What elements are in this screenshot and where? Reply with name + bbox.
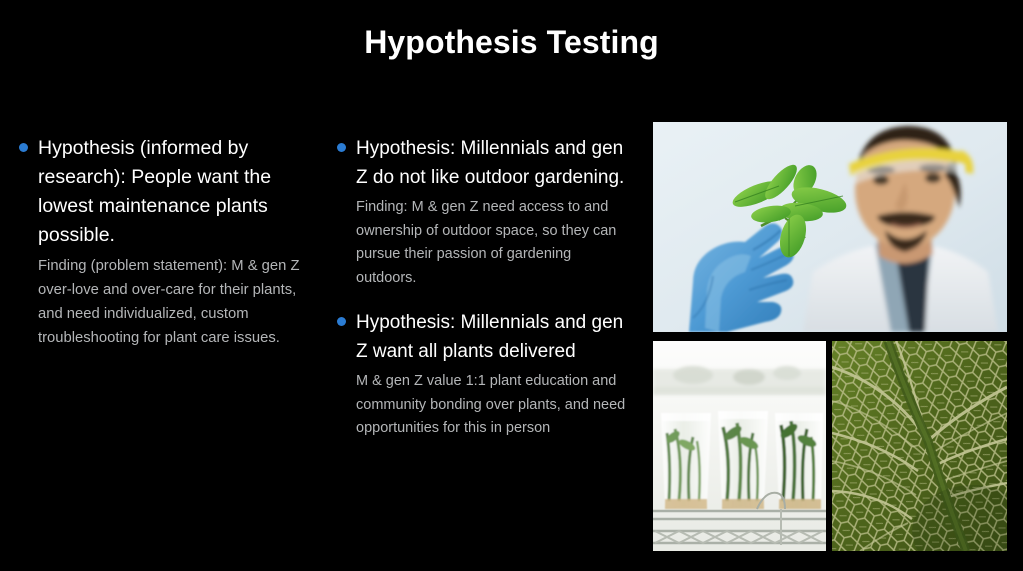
photo-leaf-macro (832, 341, 1007, 551)
text-column-2: Hypothesis: Millennials and gen Z do not… (332, 134, 628, 459)
slide-canvas: Hypothesis Testing Hypothesis (informed … (0, 0, 1023, 571)
text-column-1: Hypothesis (informed by research): Peopl… (14, 134, 314, 350)
photo-scientist-holding-plant (653, 122, 1007, 332)
bullet-row: Hypothesis: Millennials and gen Z want a… (332, 308, 628, 366)
bullet-block: Hypothesis: Millennials and gen Z do not… (332, 134, 628, 290)
bullet-dot-icon (19, 143, 28, 152)
bullet-heading: Hypothesis: Millennials and gen Z do not… (356, 138, 624, 188)
page-title: Hypothesis Testing (0, 22, 1023, 62)
bullet-block: Hypothesis (informed by research): Peopl… (14, 134, 314, 350)
bullet-row: Hypothesis: Millennials and gen Z do not… (332, 134, 628, 192)
bullet-dot-icon (337, 317, 346, 326)
bullet-sub-text: Finding (problem statement): M & gen Z o… (14, 254, 314, 350)
photo-seedling-jars (653, 341, 826, 551)
bullet-heading: Hypothesis: Millennials and gen Z want a… (356, 312, 623, 362)
bullet-heading: Hypothesis (informed by research): Peopl… (38, 137, 271, 246)
bullet-block: Hypothesis: Millennials and gen Z want a… (332, 308, 628, 441)
image-cluster (653, 122, 1007, 551)
bullet-dot-icon (337, 143, 346, 152)
bullet-sub-text: Finding: M & gen Z need access to and ow… (332, 196, 628, 290)
bullet-sub-text: M & gen Z value 1:1 plant education and … (332, 370, 628, 441)
bullet-row: Hypothesis (informed by research): Peopl… (14, 134, 314, 250)
